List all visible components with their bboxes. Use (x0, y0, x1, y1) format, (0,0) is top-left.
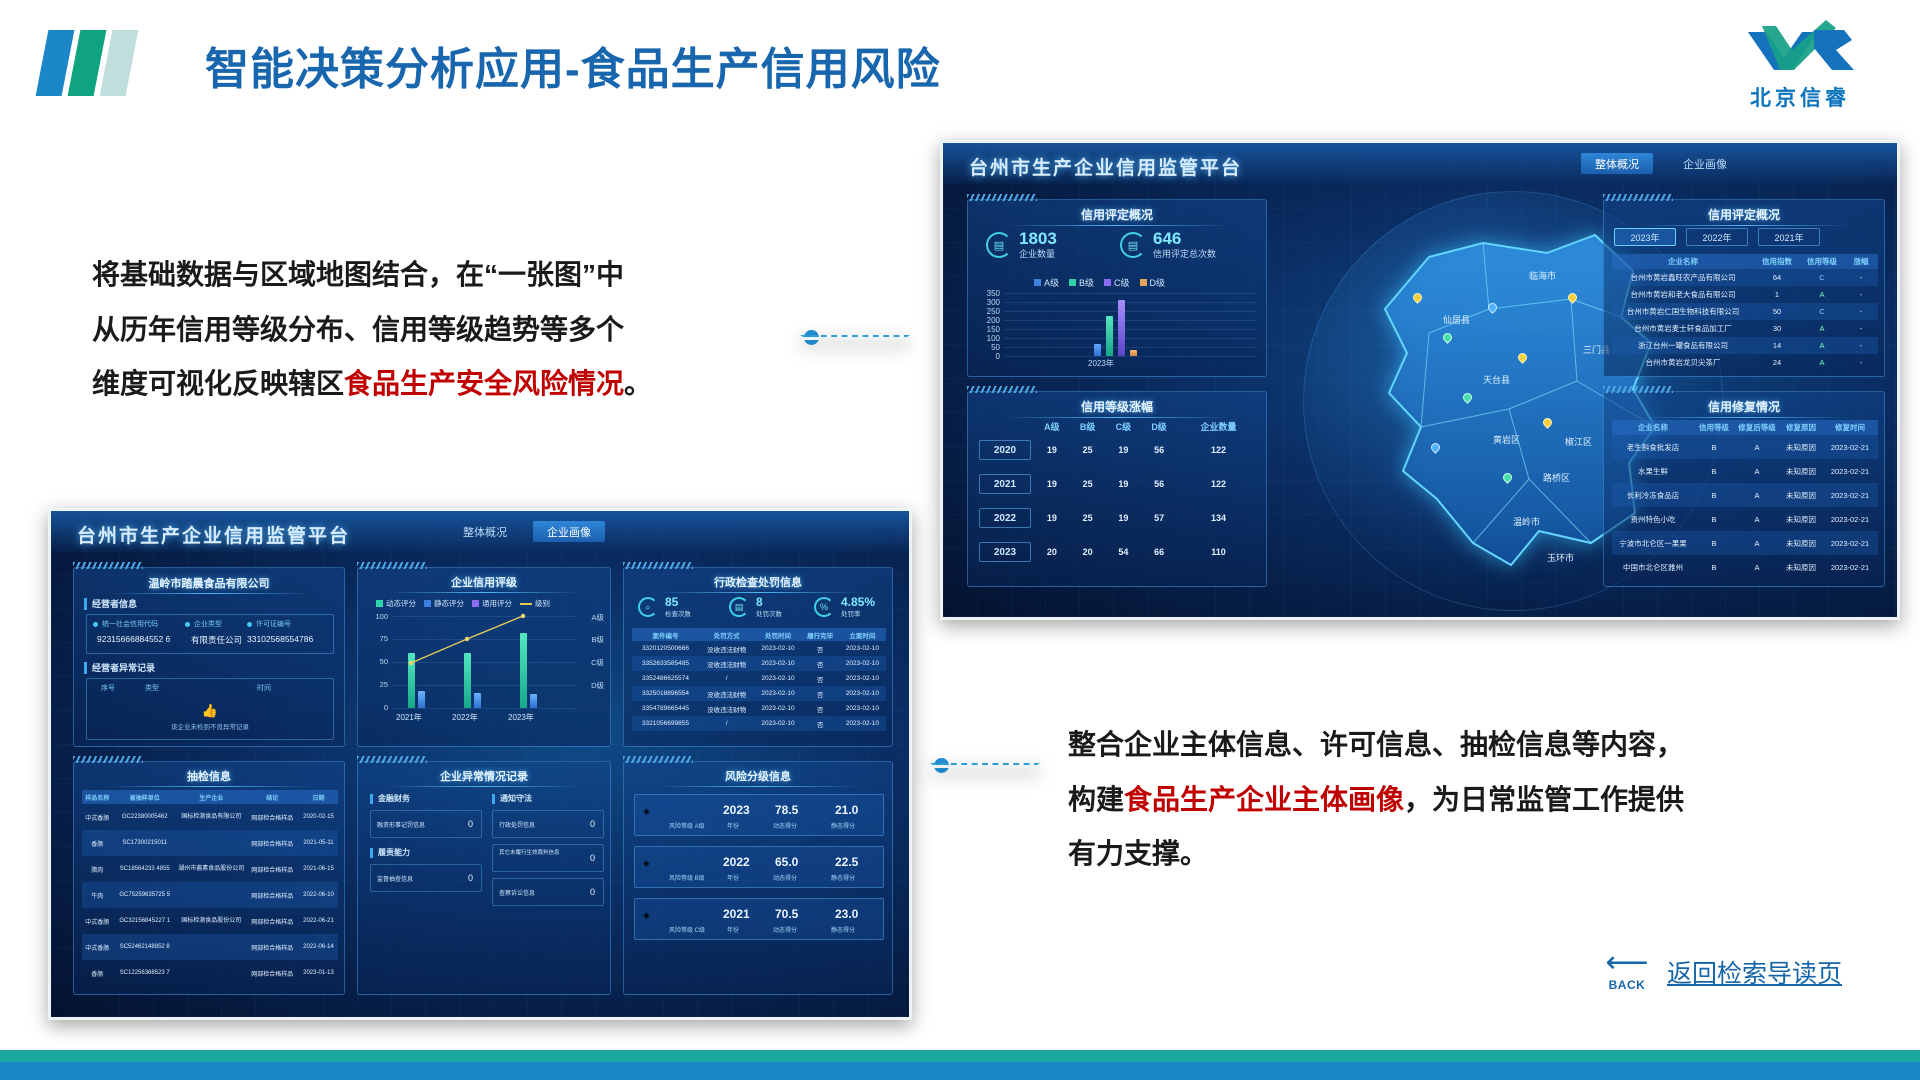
item-value: 0 (590, 887, 595, 897)
cell-grade-after: A (1734, 459, 1780, 483)
cell-grade: B (1694, 555, 1734, 579)
x-tick-2023: 2023年 (508, 712, 534, 723)
document-icon: ▤ (729, 597, 749, 617)
cell-grade: B (1694, 459, 1734, 483)
cell-sampled-unit: SC52462148852 8 (113, 934, 177, 960)
cell-conclusion: 网部检合格样品 (246, 830, 299, 856)
cell-grade-after: A (1734, 531, 1780, 555)
table-row[interactable]: 老生斟食批发店 B A 未知原因 2023-02-21 (1612, 435, 1878, 459)
risk-year: 2023 (723, 803, 750, 817)
col-b: B级 (1070, 420, 1106, 433)
cell-time: 2023-02-21 (1822, 507, 1878, 531)
table-header-row: A级 B级 C级 D级 企业数量 (976, 420, 1260, 433)
cell-b: 25 (1070, 501, 1106, 535)
y2-tick-d: D级 (591, 680, 604, 691)
legend-label: 动态评分 (386, 598, 416, 609)
item-label: 行政处罚信息 (499, 820, 535, 829)
col-reason: 修复原因 (1780, 420, 1822, 435)
cell-producer (177, 934, 246, 960)
cell-grade-after: A (1734, 555, 1780, 579)
panel-credit-rating-list: 信用评定概况 2023年 2022年 2021年 企业名称 信用指数 信用等级 … (1603, 199, 1885, 377)
panel-credit-overview: 信用评定概况 ▤ 1803 企业数量 ▤ 646 信用评定总次数 A级 B级 C… (967, 199, 1267, 377)
risk-year-label: 年份 (727, 873, 739, 882)
cell-a: 20 (1034, 535, 1070, 569)
table-grade-growth: A级 B级 C级 D级 企业数量 2020 19 25 19 56 122 (976, 420, 1260, 569)
cell-method: 没收违法财物 (699, 641, 754, 656)
empty-state-icon: 👍 (87, 703, 333, 719)
arrow-left-icon: ⟵ (1599, 948, 1655, 978)
panel-title-penalty: 行政检查处罚信息 (624, 574, 892, 590)
abnormal-record-box: 序号 类型 时间 👍 该企业未检到不良异常记录 (86, 678, 334, 740)
table-row[interactable]: 3352633585485 没收违法财物 2023-02-10 否 2023-0… (632, 656, 886, 671)
panel-company-info: 温岭市踏晨食品有限公司 经营者信息 统一社会信用代码 9231566688455… (73, 567, 345, 747)
legend-item-dynamic: 动态评分 (376, 598, 416, 609)
panel-corner-decoration (623, 562, 693, 569)
cell-method: 没收违法财物 (699, 701, 754, 716)
risk-static: 23.0 (835, 907, 858, 921)
level-trend-line (392, 616, 576, 708)
cell-year: 2023 (976, 535, 1034, 569)
col-time: 处罚时间 (754, 628, 801, 641)
year-tab-2023[interactable]: 2023年 (1614, 228, 1676, 246)
company-fields-box: 统一社会信用代码 92315666884552 6 企业类型 有限责任公司 许可… (86, 614, 334, 654)
panel-title-company-credit-rating: 企业信用评级 (358, 574, 610, 590)
kpi-value: 4.85% (841, 596, 875, 608)
legend-label: 静态评分 (434, 598, 464, 609)
logo-text: 北京信睿 (1720, 82, 1880, 112)
shield-icon: ◈ (643, 910, 663, 930)
kpi-value: 646 (1153, 230, 1216, 247)
table-row[interactable]: 2021 19 25 19 56 122 (976, 467, 1260, 501)
cell-change: - (1844, 269, 1878, 286)
legend-item-general: 通用评分 (472, 598, 512, 609)
cell-producer: 国标检测食品股份公司 (177, 908, 246, 934)
cell-company: 浙江台州一罐食品有限公司 (1612, 337, 1754, 354)
x-tick-2021: 2021年 (396, 712, 422, 723)
cell-sampled-unit: SC18564233 4855 (113, 856, 177, 882)
cell-date: 2022-06-21 (299, 908, 338, 934)
col-company: 企业名称 (1612, 254, 1754, 269)
y-tick: 50 (366, 657, 388, 666)
chart-legend-grades: A级 B级 C级 D级 (1034, 276, 1165, 289)
col-method: 处罚方式 (699, 628, 754, 641)
y-tick: 300 (976, 298, 1000, 307)
shield-icon: ◈ (643, 858, 663, 878)
cell-grade: A (1800, 354, 1844, 371)
cell-company: 长利冷冻食品店 (1612, 483, 1694, 507)
cell-reason: 未知原因 (1780, 507, 1822, 531)
table-row[interactable]: 台州市黄岩仁国生物科技有限公司 50 C - (1612, 303, 1878, 320)
tab-overall-status[interactable]: 整体概况 (449, 521, 521, 542)
item-label: 其它未履行生效裁判信息 (499, 850, 581, 856)
field-value-license-no: 33102568554786 (247, 634, 313, 644)
field-label-credit-code: 统一社会信用代码 (93, 619, 158, 629)
panel-corner-decoration (967, 194, 1037, 201)
cell-case-no: 3321056699855 (632, 716, 699, 731)
cell-case-no: 3354789665445 (632, 701, 699, 716)
right-copy-line-2: 构建食品生产企业主体画像，为日常监管工作提供 (1068, 773, 1878, 828)
panel-corner-decoration (73, 562, 143, 569)
risk-row[interactable]: ◈ 风险等级 A级 2023 年份 78.5 动态得分 21.0 静态得分 (634, 794, 884, 836)
tab-overall-status[interactable]: 整体概况 (1581, 153, 1653, 174)
cell-reason: 未知原因 (1780, 459, 1822, 483)
panel-title-credit-overview: 信用评定概况 (968, 206, 1266, 223)
xr-mark-icon (1740, 18, 1860, 80)
cell-d: 66 (1141, 535, 1177, 569)
field-label-license-no: 许可证编号 (247, 619, 291, 629)
panel-corner-decoration (623, 756, 693, 763)
bar-group-2023 (1094, 293, 1148, 356)
legend-label: B级 (1079, 276, 1094, 289)
bullet-icon (185, 622, 190, 627)
cell-company: 宁波市北仑区一果果 (1612, 531, 1694, 555)
table-row[interactable]: 2020 19 25 19 56 122 (976, 433, 1260, 467)
table-row[interactable]: 浙江台州一罐食品有限公司 14 A - (1612, 337, 1878, 354)
cell-sample-name: 中式香肠 (82, 804, 113, 830)
cell-reason: 未知原因 (1780, 483, 1822, 507)
connector-dash (930, 763, 1040, 768)
cell-a: 19 (1034, 467, 1070, 501)
cell-case-no: 3352633585485 (632, 656, 699, 671)
building-icon: ▤ (986, 232, 1012, 258)
risk-grade: 风险等级 B级 (669, 873, 705, 882)
risk-row[interactable]: ◈ 风险等级 B级 2022 年份 65.0 动态得分 22.5 静态得分 (634, 846, 884, 888)
tab-company-profile[interactable]: 企业画像 (1669, 153, 1741, 174)
panel-title-risk: 风险分级信息 (624, 768, 892, 784)
cell-index: 24 (1754, 354, 1800, 371)
item-value: 0 (468, 819, 473, 829)
tab-company-profile[interactable]: 企业画像 (533, 521, 605, 542)
cell-sample-name: 中式香肠 (82, 908, 113, 934)
risk-static: 21.0 (835, 803, 858, 817)
table-row[interactable]: 台州市黄岩麦士轩食品加工厂 30 A - (1612, 320, 1878, 337)
table-row[interactable]: 长利冷冻食品店 B A 未知原因 2023-02-21 (1612, 483, 1878, 507)
left-copy-line3-prefix: 维度可视化反映辖区 (92, 368, 344, 399)
abnormal-item-row[interactable]: 其它未履行生效裁判信息 0 (492, 844, 604, 872)
risk-grade: 风险等级 C级 (669, 925, 705, 934)
cell-done: 否 (802, 671, 839, 686)
cell-done: 否 (802, 716, 839, 731)
cell-grade: B (1694, 531, 1734, 555)
table-row[interactable]: 3325018896554 没收违法财物 2023-02-10 否 2023-0… (632, 686, 886, 701)
left-copy-line-3: 维度可视化反映辖区食品生产安全风险情况。 (92, 357, 792, 412)
table-row[interactable]: 腊肉 SC18564233 4855 湖州市酱素食品股份公司 网部检合格样品 2… (82, 856, 338, 882)
svg-text:临海市: 临海市 (1529, 270, 1556, 281)
col-sampled-unit: 被抽样单位 (113, 790, 177, 804)
kpi-enterprise-count: ▤ 1803 企业数量 (986, 230, 1057, 260)
panel-credit-repair: 信用修复情况 企业名称 信用等级 修复后等级 修复原因 修复时间 老生斟食批发店… (1603, 391, 1885, 587)
col-change: 涨幅 (1844, 254, 1878, 269)
col-grade: 信用等级 (1800, 254, 1844, 269)
cell-company: 老生斟食批发店 (1612, 435, 1694, 459)
risk-row[interactable]: ◈ 风险等级 C级 2021 年份 70.5 动态得分 23.0 静态得分 (634, 898, 884, 940)
cell-change: - (1844, 354, 1878, 371)
panel-abnormal-records: 企业异常情况记录 金融财务 融资形事记罚信息 0 履责能力 监督抽查信息 0 通… (357, 761, 611, 995)
y-tick: 50 (976, 343, 1000, 352)
building-icon: ▤ (1120, 232, 1146, 258)
cell-change: - (1844, 337, 1878, 354)
panel-title-sampling: 抽检信息 (74, 768, 344, 784)
cell-d: 56 (1141, 467, 1177, 501)
back-link-text[interactable]: 返回检索导读页 (1667, 954, 1842, 992)
table-row[interactable]: 水果生鲜 B A 未知原因 2023-02-21 (1612, 459, 1878, 483)
cell-conclusion: 网部检合格样品 (246, 804, 299, 830)
cell-conclusion: 网部检合格样品 (246, 882, 299, 908)
table-row[interactable]: 中式香肠 GC32156845227 1 国标检测食品股份公司 网部检合格样品 … (82, 908, 338, 934)
cell-grade: B (1694, 483, 1734, 507)
cell-done: 否 (802, 656, 839, 671)
panel-title-abnormal: 企业异常情况记录 (358, 768, 610, 784)
kpi-value: 1803 (1019, 230, 1057, 247)
item-label: 融资形事记罚信息 (377, 820, 425, 829)
table-row[interactable]: 台州市黄岩龙贝尖茶厂 24 A - (1612, 354, 1878, 371)
right-copy-line-1: 整合企业主体信息、许可信息、抽检信息等内容， (1068, 718, 1878, 773)
cell-producer: 国标检测食品有限公司 (177, 804, 246, 830)
risk-dynamic: 70.5 (775, 907, 798, 921)
y-tick: 75 (366, 634, 388, 643)
table-row[interactable]: 中国市北仑区雅州 B A 未知原因 2023-02-21 (1612, 555, 1878, 579)
cell-time: 2023-02-10 (754, 701, 801, 716)
cell-index: 30 (1754, 320, 1800, 337)
platform-title-overview: 台州市生产企业信用监管平台 (969, 153, 1242, 180)
cell-open-time: 2023-02-10 (839, 671, 886, 686)
col-done: 履行完毕 (802, 628, 839, 641)
risk-year: 2022 (723, 855, 750, 869)
cell-count: 110 (1177, 535, 1260, 569)
cell-b: 25 (1070, 433, 1106, 467)
cell-count: 122 (1177, 433, 1260, 467)
table-row[interactable]: 3352486625574 / 2023-02-10 否 2023-02-10 (632, 671, 886, 686)
risk-grade: 风险等级 A级 (669, 821, 705, 830)
col-index: 信用指数 (1754, 254, 1800, 269)
risk-dynamic-label: 动态得分 (773, 821, 797, 830)
col-date: 日期 (299, 790, 338, 804)
cell-date: 2023-01-13 (299, 960, 338, 986)
legend-item-b: B级 (1069, 276, 1094, 289)
cell-method: 没收违法财物 (699, 656, 754, 671)
cell-sample-name: 牛肉 (82, 882, 113, 908)
table-row[interactable]: 宁波市北仑区一果果 B A 未知原因 2023-02-21 (1612, 531, 1878, 555)
table-row[interactable]: 2022 19 25 19 57 134 (976, 501, 1260, 535)
group-title-capability: 履责能力 (378, 847, 410, 858)
dashboard-overview-screenshot: 台州市生产企业信用监管平台 整体概况 企业画像 临海市 (940, 140, 1900, 620)
section-accent (492, 794, 495, 804)
dashboard-profile-screenshot: 台州市生产企业信用监管平台 整体概况 企业画像 温岭市踏晨食品有限公司 经营者信… (48, 508, 912, 1020)
cell-producer: 湖州市酱素食品股份公司 (177, 856, 246, 882)
panel-sampling-info: 抽检信息 样品名称 被抽样单位 生产企业 结论 日期 中式香肠 GC223800… (73, 761, 345, 995)
item-value: 0 (590, 819, 595, 829)
connector-line-top (800, 330, 819, 345)
risk-dynamic-label: 动态得分 (773, 925, 797, 934)
cell-grade: C (1800, 303, 1844, 320)
right-copy-line-3: 有力支撑。 (1068, 827, 1878, 882)
bar-b (1106, 316, 1113, 356)
table-row[interactable]: 香肠 SC17300215011 网部检合格样品 2021-05-11 (82, 830, 338, 856)
footer-blue-bar (0, 1062, 1920, 1080)
abnormal-item-row[interactable]: 行政处罚信息 0 (492, 810, 604, 838)
cell-open-time: 2023-02-10 (839, 701, 886, 716)
cell-grade: B (1694, 435, 1734, 459)
panel-title-grade-growth: 信用等级涨幅 (968, 398, 1266, 415)
table-row[interactable]: 牛肉 GC75259635725 5 网部检合格样品 2022-06-10 (82, 882, 338, 908)
risk-dynamic: 78.5 (775, 803, 798, 817)
svg-text:椒江区: 椒江区 (1565, 436, 1592, 447)
table-row[interactable]: 中式香肠 SC52462148852 8 网部检合格样品 2022-06-14 (82, 934, 338, 960)
panel-corner-decoration (1603, 194, 1673, 201)
cell-count: 134 (1177, 501, 1260, 535)
svg-text:黄岩区: 黄岩区 (1493, 434, 1520, 445)
table-row[interactable]: 2023 20 20 54 66 110 (976, 535, 1260, 569)
col-d: D级 (1141, 420, 1177, 433)
cell-sample-name: 中式香肠 (82, 934, 113, 960)
panel-company-credit-rating: 企业信用评级 动态评分 静态评分 通用评分 级别 100 75 50 25 0 … (357, 567, 611, 747)
panel-corner-decoration (73, 756, 143, 763)
risk-dynamic: 65.0 (775, 855, 798, 869)
section-accent (84, 598, 87, 610)
risk-static-label: 静态得分 (831, 821, 855, 830)
y-tick: 150 (976, 325, 1000, 334)
col-time: 时间 (257, 683, 271, 693)
abnormal-item-row[interactable]: 融资形事记罚信息 0 (370, 810, 482, 838)
cell-count: 122 (1177, 467, 1260, 501)
cell-open-time: 2023-02-10 (839, 686, 886, 701)
kpi-label: 处罚次数 (756, 608, 782, 618)
risk-static-label: 静态得分 (831, 925, 855, 934)
legend-label: 级别 (535, 598, 550, 609)
col-seq: 序号 (101, 683, 115, 693)
field-value-credit-code: 92315666884552 6 (97, 634, 170, 644)
cell-grade: A (1800, 337, 1844, 354)
cell-time: 2023-02-10 (754, 641, 801, 656)
panel-grade-growth: 信用等级涨幅 A级 B级 C级 D级 企业数量 2020 19 25 19 (967, 391, 1267, 587)
cell-index: 50 (1754, 303, 1800, 320)
col-grade-after: 修复后等级 (1734, 420, 1780, 435)
cell-method: 没收违法财物 (699, 686, 754, 701)
cell-case-no: 3352486625574 (632, 671, 699, 686)
bar-c (1118, 300, 1125, 356)
legend-label: 通用评分 (482, 598, 512, 609)
table-header-row: 企业名称 信用指数 信用等级 涨幅 (1612, 254, 1878, 269)
table-row[interactable]: 3320120500666 没收违法财物 2023-02-10 否 2023-0… (632, 641, 886, 656)
group-title-finance: 金融财务 (378, 793, 410, 804)
cell-change: - (1844, 320, 1878, 337)
field-label-company-type: 企业类型 (185, 619, 222, 629)
empty-state-text: 该企业未检到不良异常记录 (87, 721, 333, 731)
field-value-company-type: 有限责任公司 (191, 634, 242, 646)
table-sampling: 样品名称 被抽样单位 生产企业 结论 日期 中式香肠 GC22380005462… (82, 790, 338, 986)
cell-a: 19 (1034, 501, 1070, 535)
table-row[interactable]: 3354789665445 没收违法财物 2023-02-10 否 2023-0… (632, 701, 886, 716)
cell-reason: 未知原因 (1780, 435, 1822, 459)
connector-dash (800, 335, 910, 340)
cell-sample-name: 香肠 (82, 960, 113, 986)
item-value: 0 (590, 853, 595, 863)
risk-year-label: 年份 (727, 821, 739, 830)
cell-conclusion: 网部检合格样品 (246, 934, 299, 960)
col-c: C级 (1105, 420, 1141, 433)
footer-teal-bar (0, 1050, 1920, 1062)
legend-item-d: D级 (1140, 276, 1166, 289)
cell-sampled-unit: GC75259635725 5 (113, 882, 177, 908)
legend-label: A级 (1044, 276, 1059, 289)
bar-a (1094, 344, 1101, 356)
section-title-abnormal-record: 经营者异常记录 (92, 661, 155, 674)
cell-company: 台州市黄岩龙贝尖茶厂 (1612, 354, 1754, 371)
cell-conclusion: 网部检合格样品 (246, 908, 299, 934)
x-tick-2023: 2023年 (1088, 358, 1114, 369)
abnormal-item-row[interactable]: 查察诉讼信息 0 (492, 878, 604, 906)
cell-index: 64 (1754, 269, 1800, 286)
cell-date: 2022-06-14 (299, 934, 338, 960)
table-row[interactable]: 台州市黄岩和老大食品有限公司 1 A - (1612, 286, 1878, 303)
col-count: 企业数量 (1177, 420, 1260, 433)
cell-grade-after: A (1734, 507, 1780, 531)
table-row[interactable]: 香肠 SC12256368523 7 网部检合格样品 2023-01-13 (82, 960, 338, 986)
cell-time: 2023-02-21 (1822, 555, 1878, 579)
cell-company: 贵州特色小吃 (1612, 507, 1694, 531)
y-tick: 200 (976, 316, 1000, 325)
cell-grade: A (1800, 320, 1844, 337)
cell-time: 2023-02-10 (754, 656, 801, 671)
table-row[interactable]: 中式香肠 GC22380005462 国标检测食品有限公司 网部检合格样品 20… (82, 804, 338, 830)
back-arrow-icon[interactable]: ⟵ BACK (1599, 948, 1655, 992)
y-tick: 350 (976, 289, 1000, 298)
cell-b: 20 (1070, 535, 1106, 569)
brand-bars-decoration (42, 30, 132, 96)
col-conclusion: 结论 (246, 790, 299, 804)
kpi-penalty-count: ▤ 8 处罚次数 (729, 596, 782, 618)
legend-label: C级 (1114, 276, 1130, 289)
back-link[interactable]: ⟵ BACK 返回检索导读页 (1599, 948, 1842, 992)
cell-date: 2021-06-15 (299, 856, 338, 882)
cell-sample-name: 腊肉 (82, 856, 113, 882)
shield-icon: ◈ (643, 806, 663, 826)
section-title-operator-info: 经营者信息 (92, 597, 137, 610)
risk-static: 22.5 (835, 855, 858, 869)
table-header-row: 样品名称 被抽样单位 生产企业 结论 日期 (82, 790, 338, 804)
table-header-row: 案件编号 处罚方式 处罚时间 履行完毕 立案时间 (632, 628, 886, 641)
cell-open-time: 2023-02-10 (839, 656, 886, 671)
cell-producer (177, 882, 246, 908)
table-row[interactable]: 贵州特色小吃 B A 未知原因 2023-02-21 (1612, 507, 1878, 531)
chart-company-credit: 100 75 50 25 0 A级 B级 C级 D级 (366, 616, 604, 738)
cell-b: 25 (1070, 467, 1106, 501)
search-shield-icon: ⌕ (638, 597, 658, 617)
y-tick: 100 (976, 334, 1000, 343)
cell-open-time: 2023-02-10 (839, 716, 886, 731)
cell-company: 台州市黄岩和老大食品有限公司 (1612, 286, 1754, 303)
abnormal-item-row[interactable]: 监督抽查信息 0 (370, 864, 482, 892)
cell-grade: C (1800, 269, 1844, 286)
section-accent (370, 794, 373, 804)
cell-date: 2022-06-10 (299, 882, 338, 908)
cell-date: 2021-05-11 (299, 830, 338, 856)
bars-and-line (392, 616, 576, 708)
cell-date: 2020-02-15 (299, 804, 338, 830)
year-tab-2022[interactable]: 2022年 (1686, 228, 1748, 246)
year-tab-2021[interactable]: 2021年 (1758, 228, 1820, 246)
cell-done: 否 (802, 701, 839, 716)
left-copy-line-2: 从历年信用等级分布、信用等级趋势等多个 (92, 303, 792, 358)
table-row[interactable]: 台州市黄岩鑫旺农产品有限公司 64 C - (1612, 269, 1878, 286)
cell-d: 57 (1141, 501, 1177, 535)
chart-legend-scores: 动态评分 静态评分 通用评分 级别 (376, 598, 550, 609)
bar-d (1130, 350, 1137, 356)
col-producer: 生产企业 (177, 790, 246, 804)
svg-text:天台县: 天台县 (1483, 374, 1510, 385)
table-row[interactable]: 3321056699855 / 2023-02-10 否 2023-02-10 (632, 716, 886, 731)
cell-method: / (699, 716, 754, 731)
